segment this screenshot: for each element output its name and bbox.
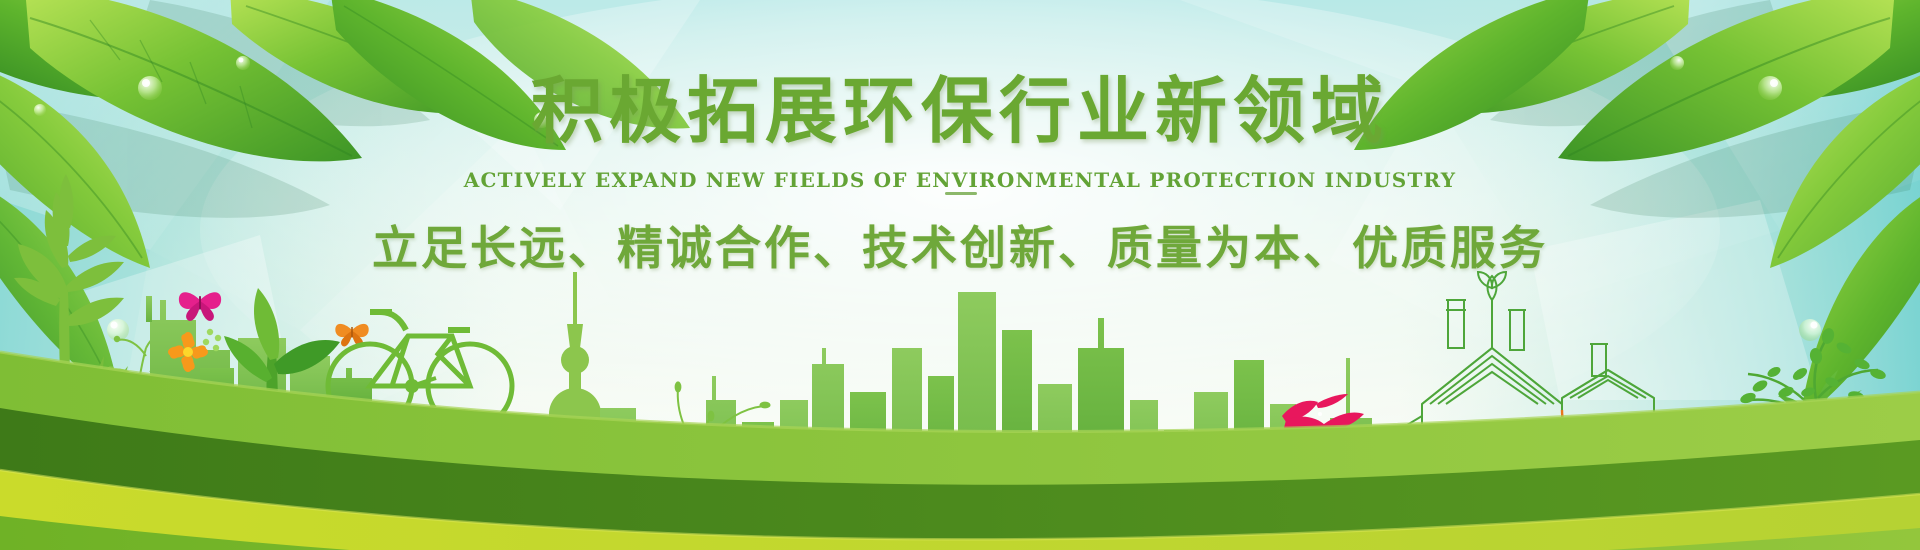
water-droplet-icon (34, 104, 46, 116)
environmental-banner: 积极拓展环保行业新领域 ACTIVELY EXPAND NEW FIELDS O… (0, 0, 1920, 550)
water-droplet-icon (138, 76, 162, 100)
butterfly-icon (179, 292, 221, 321)
scene-artwork (0, 0, 1920, 550)
leaf-cluster-icon (1354, 0, 1920, 420)
water-droplet-icon (236, 56, 250, 70)
water-droplet-icon (1670, 56, 1684, 70)
water-droplet-icon (1799, 319, 1821, 341)
water-droplet-icon (1758, 76, 1782, 100)
